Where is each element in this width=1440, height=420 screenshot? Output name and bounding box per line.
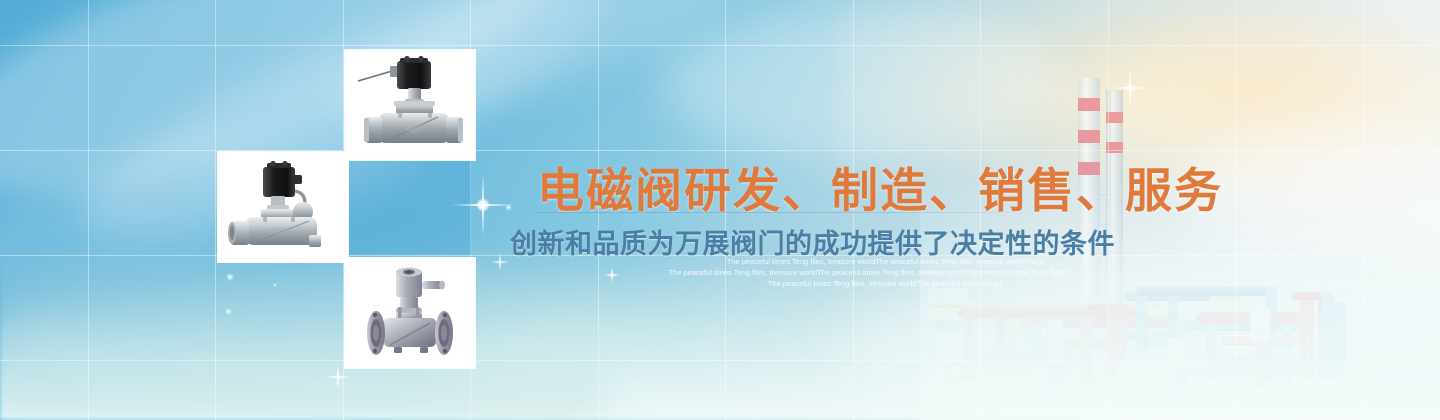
blurb-line-2: The peaceful times Teng flies, treasure … [620, 267, 1120, 278]
title-divider [537, 212, 1050, 213]
blurb-line-1: The peaceful times Teng flies, treasure … [650, 256, 1120, 267]
banner-copy: 电磁阀研发、制造、销售、服务 创新和品质为万展阀门的成功提供了决定性的条件 Th… [0, 0, 1440, 420]
banner-blurb: The peaceful times Teng flies, treasure … [650, 256, 1120, 289]
blurb-line-3: The peaceful times Teng flies, treasure … [650, 278, 1120, 289]
hero-banner: 电磁阀研发、制造、销售、服务 创新和品质为万展阀门的成功提供了决定性的条件 Th… [0, 0, 1440, 420]
banner-title: 电磁阀研发、制造、销售、服务 [537, 152, 1223, 221]
